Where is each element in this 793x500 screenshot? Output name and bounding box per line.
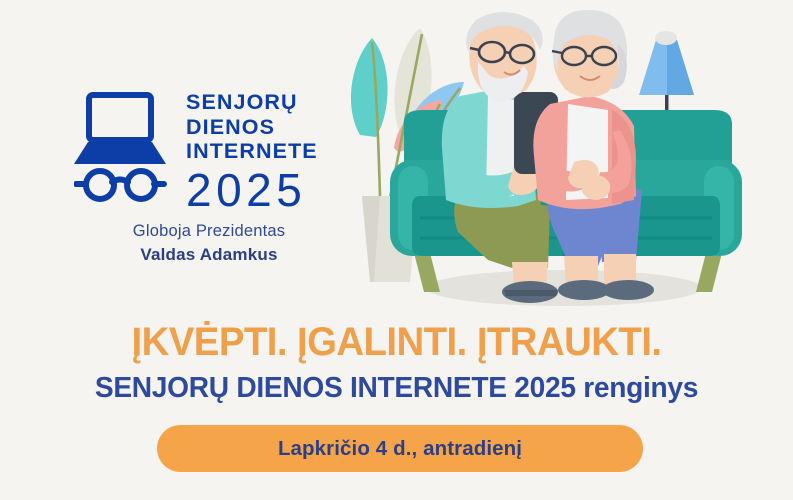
event-banner: SENJORŲ DIENOS INTERNETE 2025 Globoja Pr… [0, 0, 793, 500]
laptop-and-glasses-icon [74, 92, 178, 202]
event-logo: SENJORŲ DIENOS INTERNETE 2025 Globoja Pr… [74, 92, 344, 272]
logo-wordmark: SENJORŲ DIENOS INTERNETE 2025 [186, 90, 346, 214]
elderly-couple-illustration [336, 0, 793, 312]
logo-year: 2025 [186, 166, 346, 214]
logo-line-1: SENJORŲ [186, 90, 346, 115]
logo-line-2: DIENOS [186, 115, 346, 140]
event-date-button[interactable]: Lapkričio 4 d., antradienį [157, 425, 643, 472]
patron-credit: Globoja Prezidentas Valdas Adamkus [72, 220, 346, 266]
logo-line-3: INTERNETE [186, 139, 346, 164]
patron-label: Globoja Prezidentas [72, 220, 346, 243]
patron-name: Valdas Adamkus [72, 243, 346, 266]
subheadline: SENJORŲ DIENOS INTERNETE 2025 renginys [12, 370, 781, 406]
headline: ĮKVĖPTI. ĮGALINTI. ĮTRAUKTI. [16, 318, 777, 366]
